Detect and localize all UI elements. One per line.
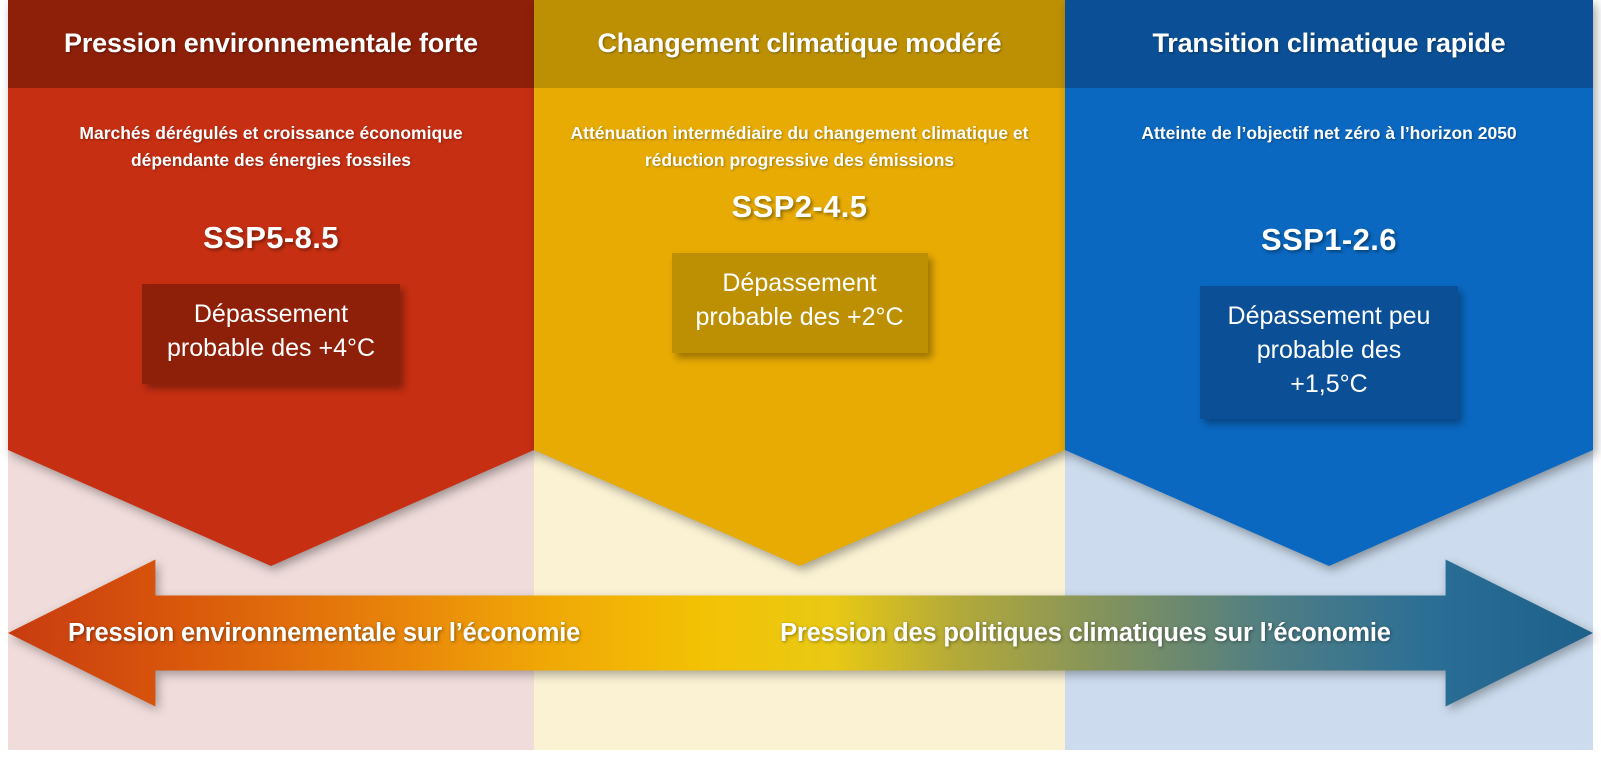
column-description-ssp5: Marchés dérégulés et croissance économiq… <box>8 88 534 174</box>
column-header-ssp2: Changement climatique modéré <box>534 0 1065 88</box>
column-description-ssp2: Atténuation intermédiaire du changement … <box>534 88 1065 174</box>
scenario-column-ssp5[interactable]: Pression environnementale forte Marchés … <box>8 0 534 566</box>
scenario-column-ssp2[interactable]: Changement climatique modéré Atténuation… <box>534 0 1065 566</box>
column-code-ssp2: SSP2-4.5 <box>534 189 1065 225</box>
column-header-ssp1: Transition climatique rapide <box>1065 0 1593 88</box>
scenario-columns: Pression environnementale forte Marchés … <box>8 0 1593 566</box>
column-code-ssp5: SSP5-8.5 <box>8 220 534 256</box>
bidirectional-arrow-icon <box>8 558 1593 708</box>
ssp-scenarios-infographic: Pression environnementale forte Marchés … <box>0 0 1601 778</box>
column-callout-ssp5: Dépassement probable des +4°C <box>142 284 400 384</box>
arrow-gradient-shape <box>8 558 1593 708</box>
column-code-ssp1: SSP1-2.6 <box>1065 222 1593 258</box>
column-callout-ssp2: Dépassement probable des +2°C <box>672 253 928 353</box>
column-header-ssp5: Pression environnementale forte <box>8 0 534 88</box>
column-description-ssp1: Atteinte de l’objectif net zéro à l’hori… <box>1065 88 1593 147</box>
scenario-column-ssp1[interactable]: Transition climatique rapide Atteinte de… <box>1065 0 1593 566</box>
column-callout-ssp1: Dépassement peu probable des +1,5°C <box>1200 286 1458 419</box>
